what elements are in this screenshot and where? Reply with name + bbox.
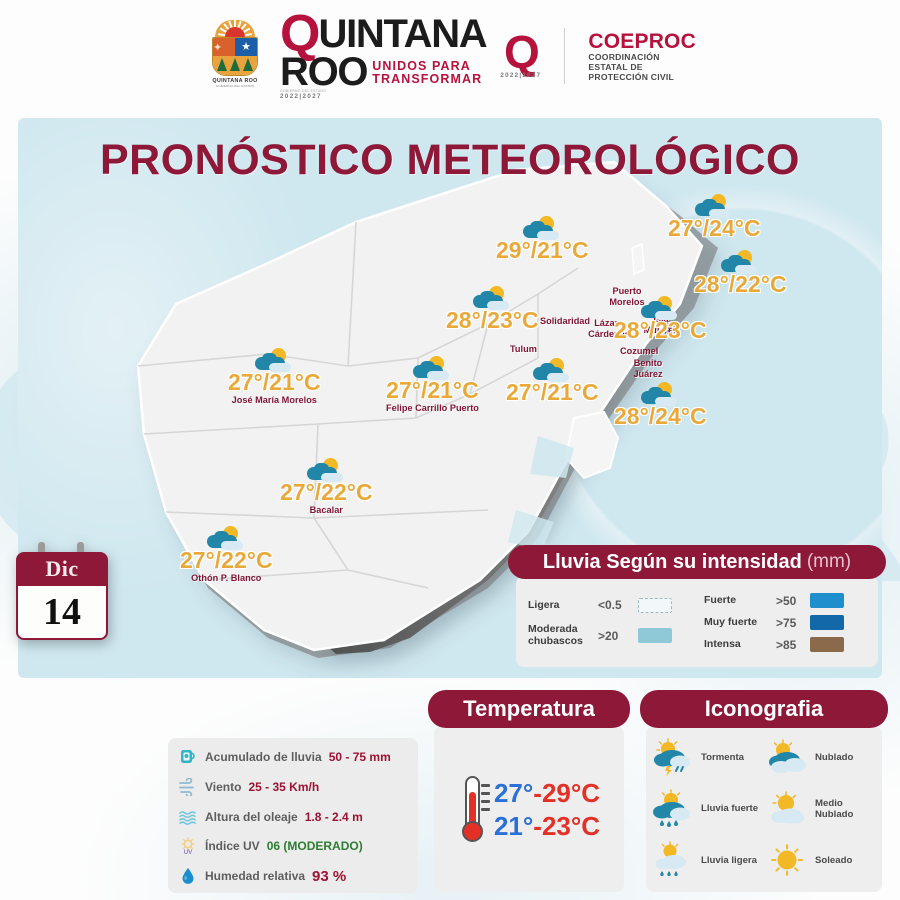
coeproc-years: 2022|2027 <box>500 72 541 79</box>
calendar-month-header: Dic <box>16 552 108 586</box>
metric-value: 93 % <box>312 868 346 885</box>
rain-swatch-intensa <box>810 637 844 652</box>
logo-years: 2022|2027 <box>280 94 486 99</box>
calendar-day-body: 14 <box>16 586 108 640</box>
isla-mujeres-island <box>632 244 644 274</box>
thermometer-icon <box>458 776 488 842</box>
metric-label: Altura del oleaje <box>205 810 298 824</box>
rain-label: Intensa <box>704 639 776 651</box>
rain-legend-column-right: Fuerte >50 Muy fuerte >75 Intensa >85 <box>698 593 868 652</box>
icono-label: MedioNublado <box>815 798 853 820</box>
header-divider <box>564 28 565 84</box>
icono-item-medio-nublado: MedioNublado <box>764 784 878 834</box>
temperature-panel: 27°-29°C 21°-23°C Temperatura <box>428 690 630 892</box>
metric-value: 25 - 35 Km/h <box>248 780 319 794</box>
coeproc-text: COEPROC COORDINACIÓN ESTATAL DE PROTECCI… <box>588 30 696 82</box>
icono-item-soleado: Soleado <box>764 835 878 885</box>
metric-row-rain-accumulation: Acumulado de lluvia 50 - 75 mm <box>178 748 410 766</box>
calendar-month: Dic <box>45 556 78 582</box>
icono-label: Soleado <box>815 855 852 866</box>
metric-row-humidity: Humedad relativa 93 % <box>178 867 410 885</box>
iconography-header: Iconografia <box>640 690 888 728</box>
conditions-list: Acumulado de lluvia 50 - 75 mm Viento 25… <box>168 738 418 893</box>
metric-value: 1.8 - 2.4 m <box>305 810 363 824</box>
tagline-line2: TRANSFORMAR <box>372 73 482 86</box>
temp-min-low: 21° <box>494 811 533 841</box>
iconography-title: Iconografia <box>705 696 824 722</box>
rain-legend-row: Muy fuerte >75 <box>704 615 868 630</box>
metric-label: Índice UV <box>205 839 260 853</box>
map-label-cozumel: Cozumel <box>620 346 658 357</box>
icono-label: Lluvia fuerte <box>701 803 758 814</box>
rain-value: >50 <box>776 594 810 608</box>
metric-label: Acumulado de lluvia <box>205 750 322 764</box>
rain-value: >20 <box>598 629 638 643</box>
map-label-isla-mujeres: IslaMujeres <box>630 314 692 335</box>
cloudy-icon <box>764 738 810 778</box>
partly-cloudy-icon <box>764 789 810 829</box>
trees-quarter <box>213 56 257 75</box>
conditions-summary-panel: Acumulado de lluvia 50 - 75 mm Viento 25… <box>168 738 418 893</box>
logo-tagline: UNIDOS PARA TRANSFORMAR <box>372 60 482 89</box>
iconography-panel: Tormenta Nublado <box>640 690 888 892</box>
coeproc-q-icon: Q <box>504 33 538 72</box>
rain-gauge-icon <box>178 748 198 766</box>
emblem-subtitle: GOBIERNO DEL ESTADO <box>216 84 255 88</box>
waves-icon <box>178 808 198 826</box>
rain-legend-body: Ligera <0.5 Moderadachubascos >20 Fuerte… <box>516 576 878 667</box>
icono-label: Nublado <box>815 752 853 763</box>
icono-label: Tormenta <box>701 752 744 763</box>
rain-legend-row: Intensa >85 <box>704 637 868 652</box>
metric-label: Humedad relativa <box>205 869 305 883</box>
temp-max-low: 27° <box>494 778 533 808</box>
rain-swatch-fuerte <box>810 593 844 608</box>
rain-value: <0.5 <box>598 598 638 612</box>
logo-quintana: UINTANA <box>318 18 486 51</box>
droplet-icon <box>178 867 198 885</box>
temperature-header: Temperatura <box>428 690 630 728</box>
temperature-min-line: 21°-23°C <box>494 813 600 839</box>
temp-max-high: -29°C <box>533 778 600 808</box>
conch-quarter: ✦ <box>213 38 235 56</box>
temp-min-high: -23°C <box>533 811 600 841</box>
icono-item-lluvia-ligera: Lluvia ligera <box>650 835 764 885</box>
rain-swatch-moderada <box>638 628 672 643</box>
quintana-roo-coat-of-arms: ✦ ★ QUINTANA ROO GOBIERNO DEL ESTADO <box>204 20 266 92</box>
rain-intensity-legend: Ligera <0.5 Moderadachubascos >20 Fuerte… <box>508 545 886 667</box>
quintana-roo-logo: Q UINTANA ROO UNIDOS PARA TRANSFORMAR GO… <box>280 13 486 98</box>
star-quarter: ★ <box>235 38 257 56</box>
rain-value: >85 <box>776 638 810 652</box>
metric-row-wind: Viento 25 - 35 Km/h <box>178 778 410 796</box>
rain-legend-column-left: Ligera <0.5 Moderadachubascos >20 <box>528 593 698 652</box>
rain-label: Moderadachubascos <box>528 624 598 647</box>
rain-label: Fuerte <box>704 595 776 607</box>
map-label-puerto-morelos: PuertoMorelos <box>596 286 658 307</box>
map-label-tulum: Tulum <box>510 344 537 355</box>
cozumel-island <box>566 412 618 478</box>
coeproc-title: COEPROC <box>588 30 696 54</box>
map-label-solidaridad: Solidaridad <box>540 316 590 327</box>
rain-value: >75 <box>776 616 810 630</box>
metric-row-uv-index: UV Índice UV 06 (MODERADO) <box>178 837 410 855</box>
coeproc-line3: PROTECCIÓN CIVIL <box>588 73 696 83</box>
logo-roo: ROO <box>280 56 367 89</box>
shield-icon: ✦ ★ <box>208 20 262 76</box>
icono-item-tormenta: Tormenta <box>650 733 764 783</box>
uv-icon: UV <box>178 837 198 855</box>
temperature-title: Temperatura <box>463 696 595 722</box>
icono-label: Lluvia ligera <box>701 855 757 866</box>
rain-label: Muy fuerte <box>704 617 776 629</box>
iconography-body: Tormenta Nublado <box>646 726 882 892</box>
rain-swatch-muy-fuerte <box>810 615 844 630</box>
rain-legend-row: Fuerte >50 <box>704 593 868 608</box>
rain-swatch-ligera <box>638 598 672 613</box>
map-label-benito-juarez: BenitoJuárez <box>618 358 678 379</box>
icono-item-lluvia-fuerte: Lluvia fuerte <box>650 784 764 834</box>
temperature-max-line: 27°-29°C <box>494 780 600 806</box>
metric-row-wave-height: Altura del oleaje 1.8 - 2.4 m <box>178 808 410 826</box>
rain-label: Ligera <box>528 600 598 612</box>
metric-label: Viento <box>205 780 241 794</box>
heavy-rain-icon <box>650 789 696 829</box>
temperature-values: 27°-29°C 21°-23°C <box>494 780 600 839</box>
sunny-icon <box>764 840 810 880</box>
light-rain-icon <box>650 840 696 880</box>
rain-legend-row: Moderadachubascos >20 <box>528 624 698 647</box>
rain-legend-header: Lluvia Según su intensidad (mm) <box>508 545 886 579</box>
calendar-day: 14 <box>43 593 81 631</box>
rain-legend-row: Ligera <0.5 <box>528 598 698 613</box>
wind-icon <box>178 778 198 796</box>
svg-text:UV: UV <box>184 849 193 855</box>
thunderstorm-icon <box>650 738 696 778</box>
coeproc-mark: Q 2022|2027 <box>500 33 541 79</box>
rain-legend-title: Lluvia Según su intensidad <box>543 551 802 574</box>
temperature-body: 27°-29°C 21°-23°C <box>434 726 624 892</box>
metric-value: 50 - 75 mm <box>329 750 391 764</box>
page-title: PRONÓSTICO METEOROLÓGICO <box>18 136 882 185</box>
metric-value: 06 (MODERADO) <box>267 839 363 853</box>
page-header: ✦ ★ QUINTANA ROO GOBIERNO DEL ESTADO Q U… <box>0 0 900 112</box>
rain-legend-unit: (mm) <box>807 551 851 573</box>
icono-item-nublado: Nublado <box>764 733 878 783</box>
date-calendar: Dic 14 <box>16 548 108 644</box>
